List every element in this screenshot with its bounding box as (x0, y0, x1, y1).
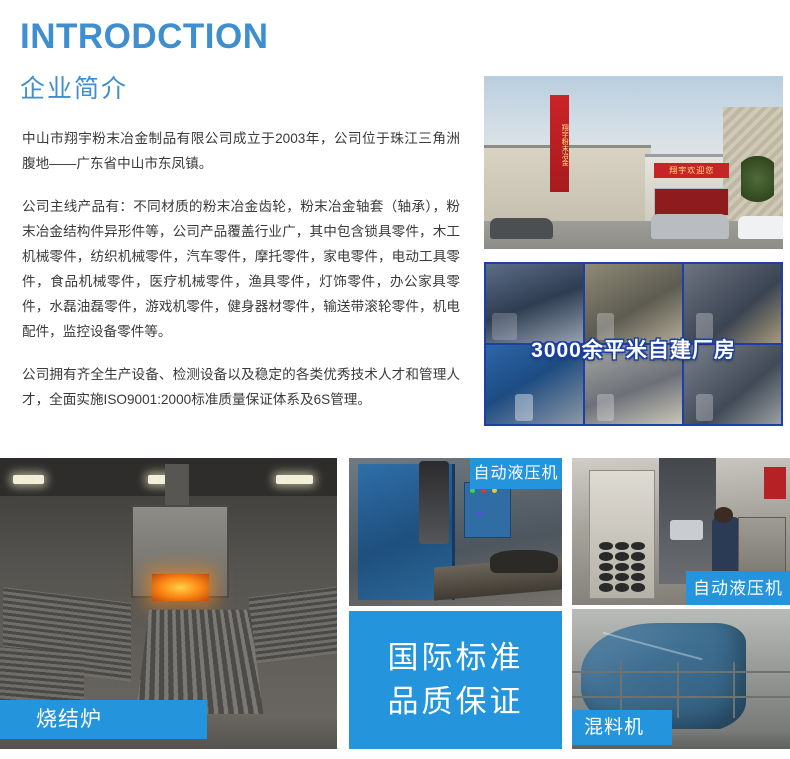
page-title-cn: 企业简介 (20, 74, 128, 104)
photo-hydraulic-press-1: 自动液压机 (349, 458, 562, 606)
panel-button (631, 563, 645, 571)
panel-button (599, 552, 613, 560)
worker-head (714, 507, 734, 523)
panel-button (599, 583, 613, 591)
panel-button (615, 563, 629, 571)
car (738, 216, 783, 238)
photo-workshop-collage: 3000余平米自建厂房 (484, 262, 783, 426)
panel-button (599, 563, 613, 571)
panel-button (631, 573, 645, 581)
furnace-flame (152, 574, 209, 600)
panel-button (599, 573, 613, 581)
rail-post (733, 662, 735, 718)
paragraph-3: 公司拥有齐全生产设备、检测设备以及稳定的各类优秀技术人才和管理人才，全面实施IS… (22, 362, 460, 412)
press-ram (670, 520, 703, 541)
panel-button (631, 542, 645, 550)
slogan-line-1: 国际标准 (388, 636, 524, 680)
caption-hydraulic-press-2: 自动液压机 (686, 571, 790, 605)
red-wall-sign (654, 188, 729, 216)
paragraph-2: 公司主线产品有：不同材质的粉末冶金齿轮，粉末冶金轴套（轴承），粉末冶金结构件异形… (22, 194, 460, 344)
press-column (419, 461, 449, 544)
safety-rail (572, 696, 790, 698)
rail-post (677, 662, 679, 718)
exterior-scene: 翔宇粉末冶金 翔宇欢迎您 (484, 76, 783, 249)
part-tray-stack (249, 586, 337, 664)
drum-seam (602, 632, 702, 661)
company-description: 中山市翔宇粉末冶金制品有限公司成立于2003年，公司位于珠江三角洲腹地——广东省… (22, 126, 460, 412)
photo-hydraulic-press-2: 自动液压机 (572, 458, 790, 605)
collage-cell (585, 264, 682, 343)
caption-furnace: 烧结炉 (0, 700, 207, 739)
page-title-en: INTRODCTION (20, 18, 269, 57)
introduction-page: INTRODCTION 企业简介 中山市翔宇粉末冶金制品有限公司成立于2003年… (0, 0, 790, 759)
panel-button (615, 573, 629, 581)
slogan-line-2: 品质保证 (388, 680, 524, 724)
powder-pile (490, 550, 558, 574)
furnace-chimney (165, 464, 189, 511)
caption-hydraulic-press-1: 自动液压机 (470, 458, 562, 489)
panel-button (599, 542, 613, 550)
car (651, 214, 729, 238)
panel-button (615, 542, 629, 550)
red-banner (764, 467, 786, 499)
vertical-sign: 翔宇粉末冶金 (550, 95, 569, 192)
ceiling-lamp (276, 475, 313, 484)
car (490, 218, 553, 239)
panel-button (615, 583, 629, 591)
button-panel (596, 539, 648, 595)
safety-rail (572, 671, 790, 673)
paragraph-1: 中山市翔宇粉末冶金制品有限公司成立于2003年，公司位于珠江三角洲腹地——广东省… (22, 126, 460, 176)
panel-button (631, 552, 645, 560)
slogan-block: 国际标准 品质保证 (349, 611, 562, 749)
collage-caption: 3000余平米自建厂房 (486, 334, 781, 364)
panel-button (615, 552, 629, 560)
collage-cell (486, 264, 583, 343)
panel-button (631, 583, 645, 591)
tree (741, 156, 774, 208)
welcome-sign: 翔宇欢迎您 (654, 163, 729, 179)
photo-factory-exterior: 翔宇粉末冶金 翔宇欢迎您 (484, 76, 783, 249)
photo-sintering-furnace: 烧结炉 (0, 458, 337, 749)
photo-mixer: 混料机 (572, 609, 790, 749)
collage-cell (684, 264, 781, 343)
ceiling-lamp (13, 475, 43, 484)
caption-mixer: 混料机 (572, 710, 672, 745)
